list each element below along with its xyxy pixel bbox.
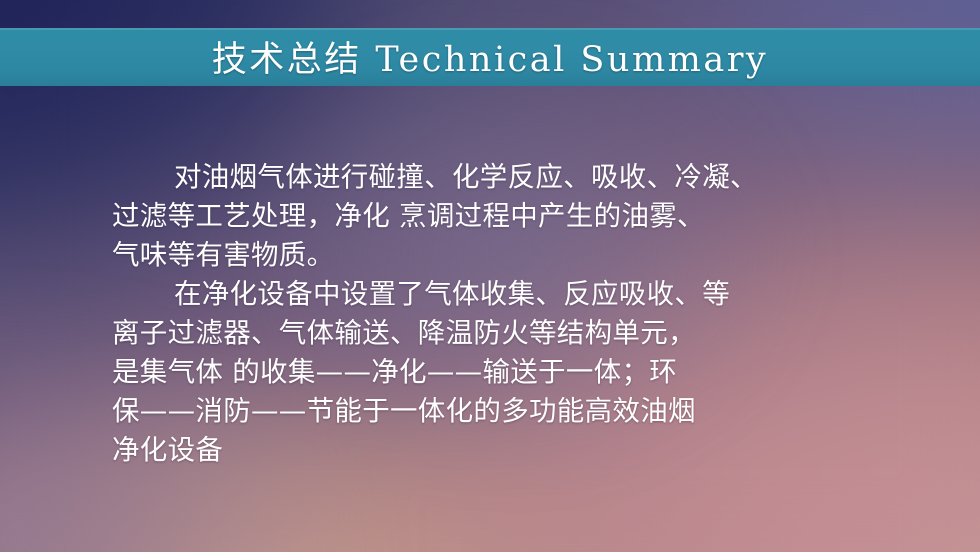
body-line-7: 保——消防——节能于一体化的多功能高效油烟: [112, 392, 912, 431]
body-line-5: 离子过滤器、气体输送、降温防火等结构单元，: [112, 314, 912, 353]
slide-title-band: 技术总结 Technical Summary: [0, 28, 980, 86]
slide-body-text: 对油烟气体进行碰撞、化学反应、吸收、冷凝、 过滤等工艺处理，净化 烹调过程中产生…: [112, 158, 912, 470]
body-line-3: 气味等有害物质。: [112, 236, 912, 275]
body-line-1: 对油烟气体进行碰撞、化学反应、吸收、冷凝、: [112, 158, 912, 197]
body-line-8: 净化设备: [112, 431, 912, 470]
body-line-4: 在净化设备中设置了气体收集、反应吸收、等: [112, 275, 912, 314]
presentation-slide: 技术总结 Technical Summary 对油烟气体进行碰撞、化学反应、吸收…: [0, 0, 980, 552]
body-line-6: 是集气体 的收集——净化——输送于一体；环: [112, 353, 912, 392]
body-line-2: 过滤等工艺处理，净化 烹调过程中产生的油雾、: [112, 197, 912, 236]
slide-title: 技术总结 Technical Summary: [212, 31, 768, 82]
